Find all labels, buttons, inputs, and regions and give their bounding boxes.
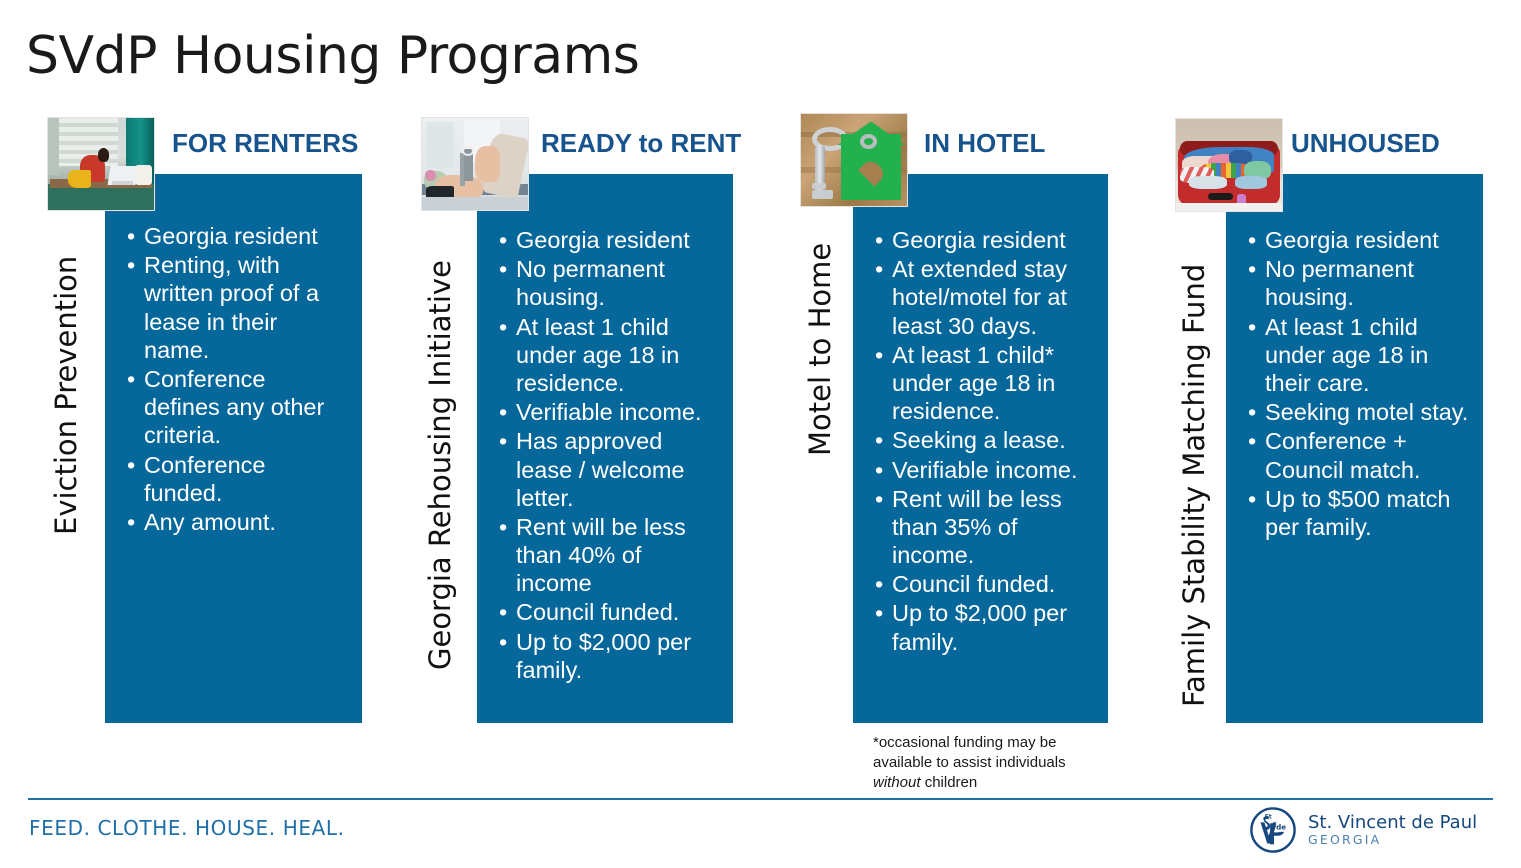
criteria-item: Any amount. (127, 508, 342, 536)
footnote-line-2: available to assist individuals (873, 753, 1103, 773)
criteria-item: Rent will be less than 35% of income. (875, 485, 1093, 570)
criteria-item: Georgia resident (127, 222, 342, 250)
criteria-item: Up to $2,000 per family. (499, 628, 717, 684)
handing-over-keys-photo (421, 117, 529, 211)
criteria-panel-1: Georgia resident Renting, with written p… (105, 174, 362, 723)
criteria-item: Seeking motel stay. (1248, 398, 1473, 426)
criteria-item: Seeking a lease. (875, 426, 1093, 454)
column-header-in-hotel: IN HOTEL (924, 128, 1045, 159)
criteria-item: At extended stay hotel/motel for at leas… (875, 255, 1093, 340)
criteria-panel-2: Georgia resident No permanent housing. A… (477, 174, 733, 723)
footer-tagline: FEED. CLOTHE. HOUSE. HEAL. (29, 816, 345, 840)
criteria-item: Verifiable income. (499, 398, 717, 426)
key-with-green-house-keychain-photo (800, 113, 908, 207)
criteria-list-1: Georgia resident Renting, with written p… (127, 222, 342, 536)
brand-name: St. Vincent de Paul (1308, 814, 1477, 833)
footer-divider (28, 798, 1493, 800)
overpacked-red-suitcase-photo (1175, 118, 1283, 212)
svdp-monogram-logo: de St (1249, 806, 1297, 854)
column-header-for-renters: FOR RENTERS (172, 128, 358, 159)
criteria-item: Georgia resident (875, 226, 1093, 254)
brand-text: St. Vincent de Paul GEORGIA (1308, 814, 1477, 846)
criteria-item: Council funded. (875, 570, 1093, 598)
footnote-line-3: without children (873, 773, 1103, 793)
page-title: SVdP Housing Programs (26, 26, 639, 86)
criteria-item: At least 1 child* under age 18 in reside… (875, 341, 1093, 426)
criteria-panel-3: Georgia resident At extended stay hotel/… (853, 174, 1108, 723)
criteria-item: Up to $2,000 per family. (875, 599, 1093, 655)
footnote-italic-word: without (873, 774, 921, 791)
criteria-item: Georgia resident (499, 226, 717, 254)
footnote: *occasional funding may be available to … (873, 733, 1103, 793)
criteria-list-2: Georgia resident No permanent housing. A… (499, 226, 717, 684)
criteria-item: Conference defines any other criteria. (127, 365, 342, 450)
program-name-family-stability-matching-fund: Family Stability Matching Fund (1180, 224, 1209, 707)
column-header-ready-to-rent: READY to RENT (541, 128, 741, 159)
criteria-list-3: Georgia resident At extended stay hotel/… (875, 226, 1093, 656)
criteria-item: No permanent housing. (1248, 255, 1473, 311)
woman-with-laptop-on-bed-photo (47, 117, 155, 211)
criteria-item: Georgia resident (1248, 226, 1473, 254)
criteria-item: Conference + Council match. (1248, 427, 1473, 483)
brand-subtitle: GEORGIA (1308, 833, 1477, 846)
program-name-motel-to-home: Motel to Home (806, 224, 835, 456)
criteria-item: At least 1 child under age 18 in their c… (1248, 313, 1473, 398)
criteria-item: No permanent housing. (499, 255, 717, 311)
column-header-unhoused: UNHOUSED (1291, 128, 1440, 159)
criteria-item: Council funded. (499, 598, 717, 626)
criteria-list-4: Georgia resident No permanent housing. A… (1248, 226, 1473, 541)
criteria-item: Has approved lease / welcome letter. (499, 427, 717, 512)
svg-text:de: de (1276, 823, 1286, 832)
criteria-panel-4: Georgia resident No permanent housing. A… (1226, 174, 1483, 723)
criteria-item: Conference funded. (127, 451, 342, 507)
footnote-line-1: *occasional funding may be (873, 733, 1103, 753)
brand-lockup: de St St. Vincent de Paul GEORGIA (1249, 806, 1477, 854)
slide-canvas: SVdP Housing Programs Georgia resident R… (0, 0, 1521, 868)
program-name-eviction-prevention: Eviction Prevention (52, 225, 81, 535)
program-name-georgia-rehousing-initiative: Georgia Rehousing Initiative (426, 224, 455, 670)
svg-text:St: St (1265, 814, 1272, 820)
footnote-line-3-rest: children (921, 774, 978, 791)
criteria-item: Rent will be less than 40% of income (499, 513, 717, 598)
criteria-item: Verifiable income. (875, 456, 1093, 484)
criteria-item: At least 1 child under age 18 in residen… (499, 313, 717, 398)
criteria-item: Renting, with written proof of a lease i… (127, 251, 342, 364)
criteria-item: Up to $500 match per family. (1248, 485, 1473, 541)
